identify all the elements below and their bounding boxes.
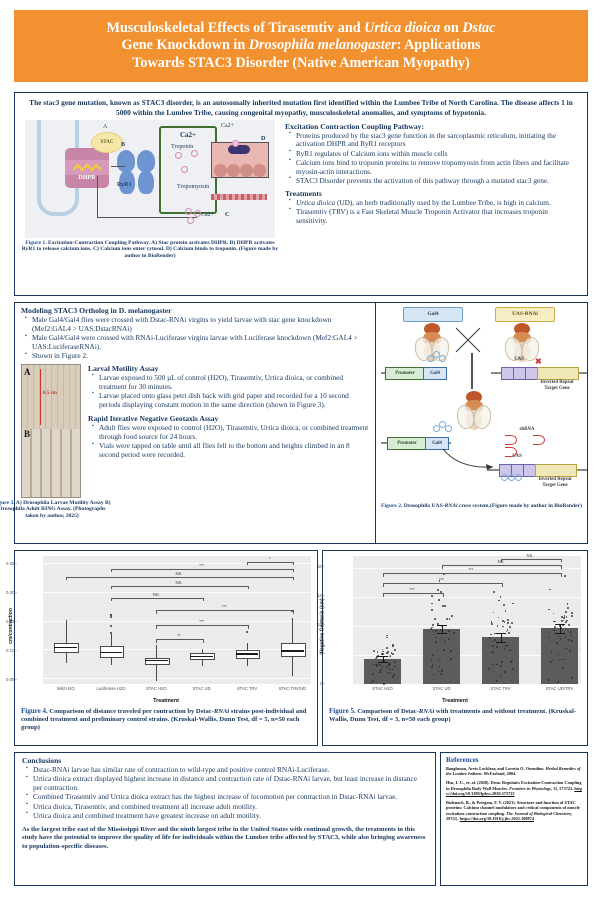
y-tick-label: 0.25–	[0, 561, 17, 566]
arrow-cytosol-segment	[97, 217, 197, 218]
x-tick-label: STAC H2O	[130, 686, 182, 691]
figure1-label-a: A	[103, 124, 107, 130]
uas-sites-box	[501, 367, 539, 380]
gal4-protein-dot	[445, 425, 452, 432]
title-line-1-b: on	[440, 20, 462, 36]
data-point	[496, 680, 498, 682]
whisker-upper	[292, 618, 293, 643]
data-point	[378, 672, 380, 674]
ecc-heading: Excitation Contraction Coupling Pathway:	[285, 122, 581, 131]
data-point	[512, 668, 514, 670]
data-point	[503, 604, 505, 606]
data-point	[550, 661, 552, 663]
x-tick-label: STAC TRV/UD	[266, 686, 318, 691]
figure4-plot-wrap: cm/contraction 0.05–0.10–0.15–0.20–0.25–…	[15, 551, 317, 704]
data-point	[448, 630, 450, 632]
figure1-caption: Figure 1. Excitation-Contraction Couplin…	[21, 240, 279, 260]
significance-bar	[156, 625, 249, 629]
data-point	[435, 630, 437, 632]
data-point	[511, 660, 513, 662]
bar	[541, 628, 578, 684]
data-point	[500, 675, 502, 677]
figure4-boxplot: ********NS.NS.NS.****	[43, 556, 311, 684]
ecc-bullet: STAC3 Disorder prevents the activation o…	[296, 177, 581, 186]
data-point	[392, 644, 394, 646]
activation-arrow-icon	[441, 447, 499, 473]
modeling-heading: Modeling STAC3 Ortholog in D. melanogast…	[21, 306, 371, 315]
data-point	[508, 632, 510, 634]
data-point	[505, 610, 507, 612]
data-point	[563, 617, 565, 619]
muscle-cell	[253, 164, 266, 177]
data-point	[444, 605, 446, 607]
whisker-upper	[156, 645, 157, 658]
significance-bar	[156, 610, 294, 614]
larval-assay-bullets: Larvae exposed to 500 µL of control (H2O…	[88, 374, 371, 410]
outlier-point	[110, 614, 112, 616]
error-cap	[496, 633, 506, 634]
figure2-diagram: Gal4 UAS-RNAi	[379, 305, 584, 501]
calcium-ion	[175, 152, 182, 159]
significance-label: ***	[383, 577, 501, 582]
data-point	[498, 600, 500, 602]
figure1-label-b: B	[121, 142, 125, 148]
ring-assay-bullet: Vials were tapped on table until all fli…	[99, 442, 371, 460]
significance-bar	[111, 586, 249, 590]
ryr1-shape	[117, 150, 157, 196]
conclusions-heading: Conclusions	[22, 756, 428, 765]
data-point	[394, 661, 396, 663]
uas-label: UAS	[499, 454, 535, 459]
methods-panel: Modeling STAC3 Ortholog in D. melanogast…	[14, 302, 588, 544]
data-point	[386, 666, 388, 668]
median-line	[236, 653, 259, 654]
conclusion-bullet: Urtica dioica and combined treatment hav…	[33, 812, 428, 821]
significance-bar	[383, 583, 503, 587]
grid-line	[353, 597, 581, 598]
introduction-panel: The stac3 gene mutation, known as STAC3 …	[14, 92, 588, 296]
calcium-ion	[181, 166, 188, 173]
error-bar	[442, 625, 443, 633]
figure1-label-c: C	[225, 212, 229, 218]
y-tick-label: 0.10–	[0, 648, 17, 653]
figure2-caption-text-b: cross system.(Figure made by author in B…	[458, 503, 582, 509]
figure1-container: A DHPR STAC B RyR1	[21, 120, 279, 260]
ca-top-label: Ca2+	[221, 123, 234, 129]
data-point	[376, 664, 378, 666]
data-point	[493, 591, 495, 593]
figure2-caption: Figure 2. Drosophila UAS-RNAi cross syst…	[379, 503, 584, 510]
whisker-upper	[66, 620, 67, 642]
promoter-box: Promoter	[385, 367, 425, 380]
data-point	[492, 645, 494, 647]
data-point	[392, 676, 394, 678]
x-tick-label: Wild H2O	[40, 686, 92, 691]
reference-tail: . McFarland, 2004.	[482, 771, 517, 776]
modeling-bullet-list: Male Gal4/Gal4 flies were crossed with D…	[21, 316, 371, 361]
data-point	[548, 679, 550, 681]
data-point	[450, 650, 452, 652]
target-gene-label: Target Gene	[521, 386, 593, 391]
shrna-hairpin-icon	[533, 435, 545, 445]
data-point	[379, 664, 381, 666]
significance-bar	[111, 569, 294, 573]
arrow-down-segment	[97, 176, 98, 218]
data-point	[496, 646, 498, 648]
data-point	[491, 641, 493, 643]
data-point	[491, 651, 493, 653]
uas-rnai-tag-box: UAS-RNAi	[495, 307, 555, 322]
figure1-label-d: D	[261, 136, 265, 142]
actin-filament-strip	[211, 194, 267, 200]
reference-italic: Frontiers in Physiology	[509, 786, 551, 791]
inverted-repeat-label: Inverted Repeat	[519, 477, 591, 482]
data-point	[375, 658, 377, 660]
treatments-heading: Treatments	[285, 189, 581, 198]
repression-x-icon: ✖	[535, 357, 542, 366]
figure4-caption-text-a: Comparison of distance traveled per cont…	[48, 708, 214, 715]
inverted-repeat-target-gene-box	[535, 464, 577, 477]
figure3-caption-label: Figure 3.	[0, 500, 15, 506]
gal4-protein-dot	[515, 474, 522, 481]
significance-bar	[111, 598, 204, 602]
data-point	[389, 669, 391, 671]
gal4-gene-box: Gal4	[423, 367, 447, 380]
significance-bar	[156, 639, 203, 643]
significance-label: NS.	[501, 553, 560, 558]
data-point	[553, 621, 555, 623]
error-cap	[437, 633, 447, 634]
reference-item: Boughman, Arvis Locklear, and Loretta O.…	[446, 766, 582, 776]
figure5-caption-text-a: Comparison of Dstac-	[356, 708, 419, 715]
data-point	[448, 638, 450, 640]
promoter-box: Promoter	[387, 437, 427, 450]
x-tick-label: STAC H2O	[355, 686, 411, 691]
dhpr-label: DHPR	[65, 175, 109, 181]
data-point	[443, 649, 445, 651]
conclusion-bullet: Urtica dioica, Tirasemtiv, and combined …	[33, 803, 428, 812]
data-point	[568, 639, 570, 641]
y-tick-label: 0.20–	[0, 590, 17, 595]
x-tick-label: STAC UD	[176, 686, 228, 691]
data-point	[394, 649, 396, 651]
data-point	[554, 626, 556, 628]
data-point	[557, 681, 559, 683]
fly-offspring	[457, 391, 491, 431]
error-cap	[437, 625, 447, 626]
data-point	[568, 624, 570, 626]
grid-line	[353, 626, 581, 627]
ryr1-lobe	[117, 150, 135, 172]
data-point	[442, 605, 444, 607]
figure2-caption-text-a: Drosophila UAS-	[402, 503, 444, 509]
y-tick-label: 10–	[303, 622, 325, 627]
data-point	[498, 617, 500, 619]
troponin-label: Troponin	[171, 144, 193, 150]
significance-label: ***	[156, 619, 247, 624]
data-point	[392, 653, 394, 655]
ring-assay-heading: Rapid Iterative Negative Geotaxis Assay	[88, 414, 371, 423]
figure4-caption: Figure 4. Comparison of distance travele…	[15, 706, 317, 733]
y-tick-label: 0.05–	[0, 677, 17, 682]
figure4-plot-area: cm/contraction 0.05–0.10–0.15–0.20–0.25–…	[19, 554, 313, 698]
figure3-photographs: 0.5 cm A B	[21, 364, 81, 498]
tropomyosin-strand	[228, 145, 250, 154]
data-point	[571, 640, 573, 642]
significance-bar	[66, 577, 295, 581]
scale-bar-line	[40, 369, 41, 425]
data-point	[510, 661, 512, 663]
ryr1-label: RyR1	[117, 182, 131, 188]
title-line-1-a: Musculoskeletal Effects of Tirasemtiv an…	[107, 20, 365, 36]
figure2-caption-italic: RNAi	[445, 503, 458, 509]
whisker-lower	[292, 655, 293, 675]
poster-title-bar: Musculoskeletal Effects of Tirasemtiv an…	[14, 10, 588, 82]
ca-cytosol-label: Ca2+	[201, 212, 214, 218]
median-line	[190, 656, 213, 657]
significance-bar	[442, 565, 562, 569]
data-point	[432, 654, 434, 656]
data-point	[549, 589, 551, 591]
error-cap	[496, 642, 506, 643]
references-heading: References	[446, 756, 582, 764]
figure5-caption-label: Figure 5.	[329, 707, 356, 715]
arrow-dhpr-to-ryr1	[111, 166, 125, 167]
cross-icon	[455, 327, 481, 353]
conclusion-bullet: Urtica dioica extract displayed highest …	[33, 775, 428, 793]
data-point	[435, 641, 437, 643]
data-point	[493, 612, 495, 614]
median-line	[100, 652, 123, 653]
figure1-caption-label: Figure 1.	[25, 240, 46, 246]
x-tick-label: STAC TRV	[221, 686, 273, 691]
tropomyosin-label: Tropomyosin	[177, 184, 209, 190]
data-point	[501, 661, 503, 663]
ecc-bullet-list: Proteins produced by the stac3 gene func…	[285, 132, 581, 186]
grid-line	[353, 684, 581, 685]
data-point	[571, 677, 573, 679]
modeling-bullet: Male Gal4/Gal4 flies were crossed with D…	[32, 316, 371, 334]
modeling-bullet: Male Gal4/Gal4 were crossed with RNAi-Lu…	[32, 334, 371, 352]
data-point	[500, 665, 502, 667]
data-point	[562, 667, 564, 669]
y-tick-label: 0–	[303, 681, 325, 686]
data-point	[561, 627, 563, 629]
data-point	[491, 623, 493, 625]
significance-label: NS.	[111, 592, 202, 597]
x-tick-label: STAC TRV	[473, 686, 529, 691]
conclusions-bullet-list: Dstac-RNAi larvae has similar rate of co…	[22, 766, 428, 821]
reference-item: Hsu, I.-U., et. al. (2020). Dstac Regula…	[446, 780, 582, 796]
x-tick-label: STAC UD	[414, 686, 470, 691]
data-point	[571, 615, 573, 617]
data-point	[449, 618, 451, 620]
figure5-x-axis-label: Treatment	[327, 698, 583, 704]
treatment-bullet-text: (UD), an herb traditionally used by the …	[335, 198, 551, 207]
significance-label: *	[247, 556, 292, 561]
figure4-y-axis-label: cm/contraction	[8, 608, 14, 644]
data-point	[506, 645, 508, 647]
larval-assay-bullet: Larvae placed onto glass petri dish back…	[99, 392, 371, 410]
significance-label: ***	[156, 604, 292, 609]
data-point	[490, 634, 492, 636]
data-point	[565, 611, 567, 613]
calcium-ion	[194, 210, 201, 217]
reference-link[interactable]: https://doi.org/10.1016/j.jbc.2021.10087…	[460, 816, 534, 821]
data-point	[511, 622, 513, 624]
calcium-channel-box: Ca2+	[159, 126, 217, 214]
troponin-complex-box	[211, 142, 269, 178]
inverted-repeat-label: Inverted Repeat	[521, 380, 593, 385]
assay-descriptions: Larval Motility Assay Larvae exposed to …	[83, 364, 371, 520]
figure1-diagram: A DHPR STAC B RyR1	[25, 120, 275, 238]
outlier-point	[110, 625, 112, 627]
ring-assay-bullet: Adult flies were exposed to control (H2O…	[99, 424, 371, 442]
error-cap	[378, 662, 388, 663]
treatment-bullet: Tirasemtiv (TRV) is a Fast Skeletal Musc…	[296, 208, 581, 226]
ecc-pathway-section: Excitation Contraction Coupling Pathway:…	[279, 120, 581, 260]
data-point	[371, 682, 373, 684]
dhpr-shape: DHPR	[65, 148, 109, 188]
significance-bar	[247, 562, 294, 566]
figure5-plot-wrap: Negative Geotaxis (cm) 0–5–10–15–20– ***…	[323, 551, 587, 704]
data-point	[450, 658, 452, 660]
figure1-caption-text: Excitation-Contraction Coupling Pathway.…	[22, 240, 278, 259]
outlier-point	[110, 616, 112, 618]
data-point	[567, 603, 569, 605]
ca-box-label: Ca2+	[161, 131, 215, 139]
ryr1-lobe	[138, 170, 154, 194]
error-cap	[555, 624, 565, 625]
data-point	[509, 649, 511, 651]
data-point	[565, 648, 567, 650]
larval-assay-heading: Larval Motility Assay	[88, 364, 371, 373]
data-point	[488, 668, 490, 670]
data-point	[570, 631, 572, 633]
introduction-text: The stac3 gene mutation, known as STAC3 …	[15, 93, 587, 120]
conclusion-bullet: Combined Tirasemtiv and Urtica dioica ex…	[33, 793, 428, 802]
data-point	[431, 609, 433, 611]
grid-line	[43, 649, 311, 650]
figure2-caption-label: Figure 2.	[381, 503, 402, 509]
page-title: Musculoskeletal Effects of Tirasemtiv an…	[101, 20, 502, 72]
figure4-caption-label: Figure 4.	[21, 707, 48, 715]
figure3-panel-b-label: B	[24, 429, 30, 439]
median-line	[281, 650, 304, 651]
calcium-ion	[191, 150, 198, 157]
error-bar	[501, 633, 502, 643]
data-point	[386, 647, 388, 649]
x-tick-label: Luciferase H2O	[85, 686, 137, 691]
gal4-protein-dot	[508, 474, 515, 481]
closing-statement: As the largest tribe east of the Mississ…	[22, 826, 428, 852]
data-point	[566, 616, 568, 618]
grid-line	[43, 678, 311, 679]
data-point	[373, 650, 375, 652]
treatments-bullet-list: Urtica dioica (UD), an herb traditionall…	[285, 199, 581, 226]
data-point	[377, 651, 379, 653]
significance-bar	[383, 573, 562, 577]
ecc-bullet: Proteins produced by the stac3 gene func…	[296, 132, 581, 150]
y-tick-label: 15–	[303, 593, 325, 598]
y-tick-label: 20–	[303, 564, 325, 569]
whisker-upper	[247, 643, 248, 650]
conclusions-panel: Conclusions Dstac-RNAi larvae has simila…	[14, 752, 436, 886]
muscle-cell	[227, 164, 240, 177]
data-point	[502, 626, 504, 628]
data-point	[507, 619, 509, 621]
data-point	[563, 620, 565, 622]
data-point	[451, 615, 453, 617]
data-point	[387, 651, 389, 653]
calcium-ion	[187, 217, 194, 224]
data-point	[386, 637, 388, 639]
uas-label: UAS	[501, 357, 537, 362]
title-line-3: Towards STAC3 Disorder (Native American …	[132, 55, 469, 71]
y-tick-label: 5–	[303, 651, 325, 656]
title-line-2-b: : Applications	[397, 37, 481, 53]
ring-assay-bullets: Adult flies were exposed to control (H2O…	[88, 424, 371, 460]
vertical-arrow-line	[471, 353, 473, 389]
gal4-protein-dot	[501, 474, 508, 481]
error-cap	[555, 633, 565, 634]
median-line	[54, 647, 77, 648]
data-point	[453, 632, 455, 634]
data-point	[564, 575, 566, 577]
data-point	[434, 618, 436, 620]
title-line-2-italic: Drosophila melanogaster	[249, 37, 397, 53]
data-point	[512, 603, 514, 605]
significance-bar	[501, 559, 562, 563]
data-point	[433, 674, 435, 676]
title-line-1-italic: Urtica dioica	[364, 20, 440, 36]
significance-bar	[383, 593, 444, 597]
outlier-point	[246, 631, 248, 633]
ring-vials-photo	[22, 429, 80, 497]
significance-label: NS.	[111, 580, 247, 585]
target-gene-label: Target Gene	[519, 483, 591, 488]
treatment-species-name: Urtica dioica	[296, 198, 335, 207]
outlier-point	[110, 632, 112, 634]
muscle-cell	[240, 164, 253, 177]
error-cap	[378, 656, 388, 657]
ecc-bullet: Calcium ions bind to troponin proteins t…	[296, 159, 581, 177]
title-line-1-italic-2: Dstac	[462, 20, 495, 36]
reference-item: Rufenach, B., & Petegem, F. V. (2021). S…	[446, 800, 582, 821]
inverted-repeat-target-gene-box	[537, 367, 579, 380]
larval-assay-bullet: Larvae exposed to 500 µL of control (H2O…	[99, 374, 371, 392]
median-line	[145, 660, 168, 661]
x-tick-label: STAC UD/TRV	[532, 686, 588, 691]
error-bar	[560, 624, 561, 633]
data-point	[567, 607, 569, 609]
data-point	[383, 683, 385, 685]
data-point	[507, 622, 509, 624]
y-tick-label: 0.15–	[0, 619, 17, 624]
data-point	[438, 599, 440, 601]
figure5-panel: Negative Geotaxis (cm) 0–5–10–15–20– ***…	[322, 550, 588, 746]
whisker-upper	[111, 634, 112, 646]
whisker-lower	[156, 663, 157, 681]
figure4-x-axis-label: Treatment	[19, 698, 313, 704]
gal4-tag-box: Gal4	[403, 307, 463, 322]
calcium-ion	[185, 208, 192, 215]
data-point	[565, 621, 567, 623]
lightning-icon	[73, 163, 101, 172]
data-point	[494, 639, 496, 641]
data-point	[556, 642, 558, 644]
data-point	[553, 613, 555, 615]
